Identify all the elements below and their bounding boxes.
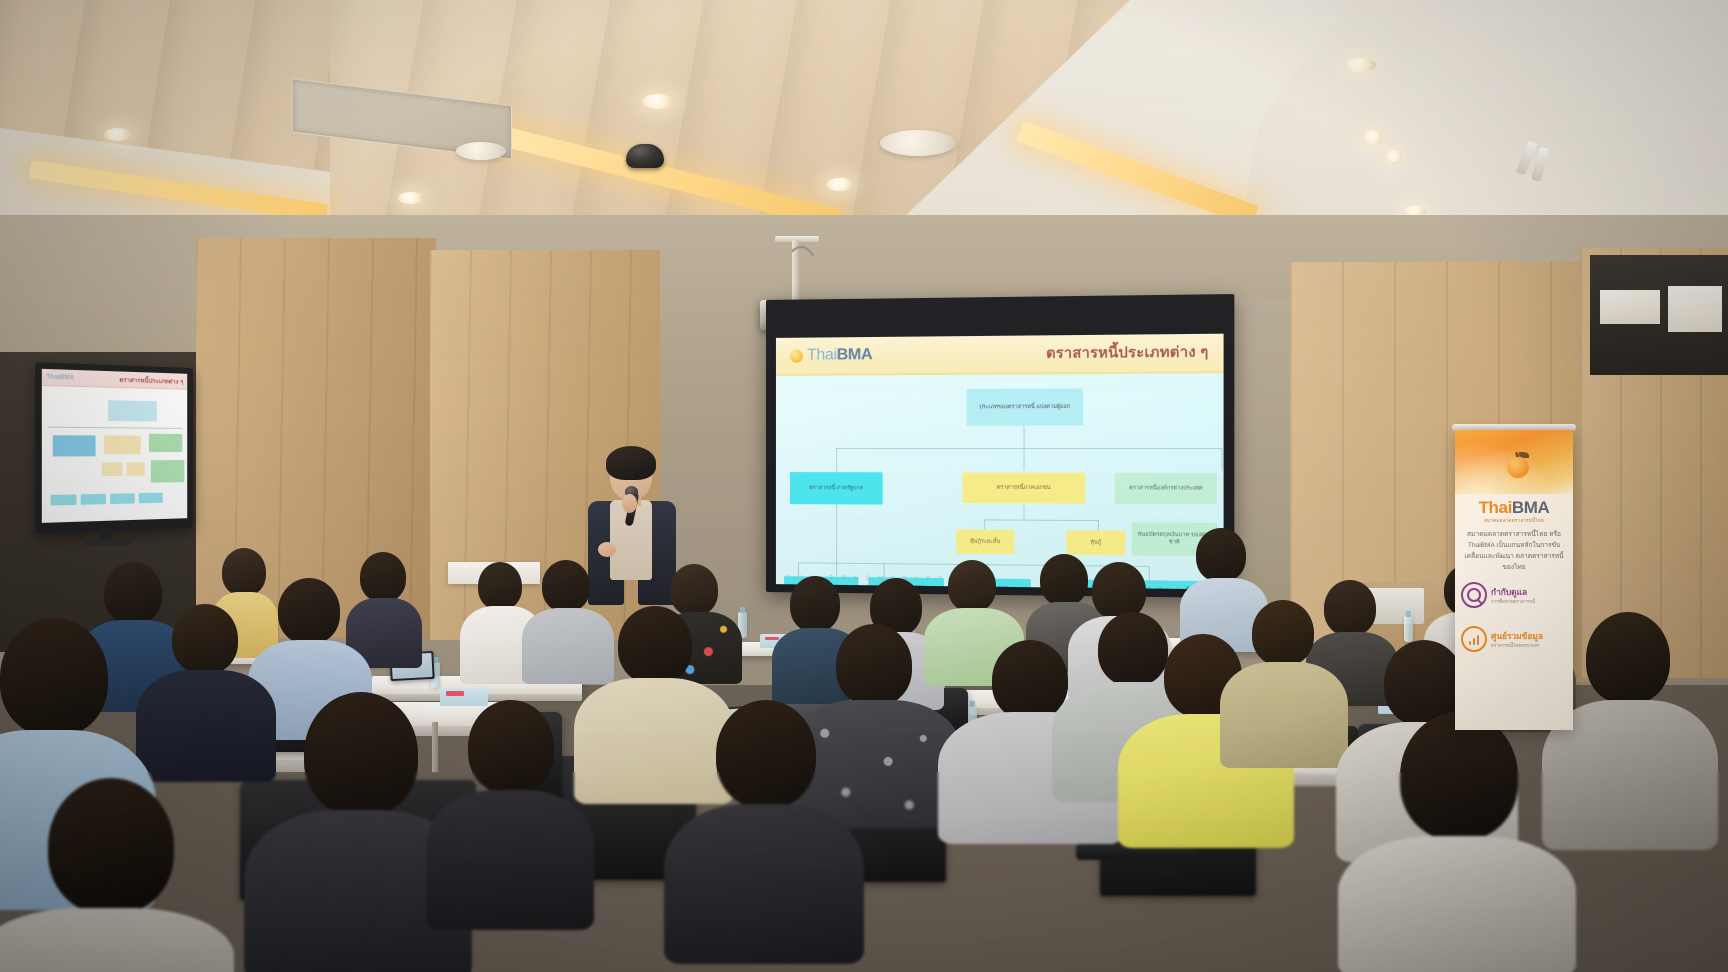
connector-line xyxy=(1098,520,1099,530)
roll-up-banner: ThaiBMA สมาคมตลาดตราสารหนี้ไทย สมาคมตลาด… xyxy=(1455,430,1573,730)
person-head xyxy=(542,560,590,612)
person-head xyxy=(0,618,108,736)
presentation-slide: ThaiBMA ตราสารหนี้ประเภทต่าง ๆ xyxy=(776,334,1224,590)
recessed-downlight xyxy=(1344,58,1376,72)
person-head xyxy=(670,564,718,616)
banner-logo-thai: Thai xyxy=(1479,498,1512,517)
person-head xyxy=(1400,712,1518,840)
recessed-downlight xyxy=(642,94,674,109)
wall-monitor: ThaiBMA ตราสารหนี้ประเภทต่าง ๆ xyxy=(35,362,193,534)
wall-monitor-node-gov xyxy=(53,435,96,456)
bar-chart-icon xyxy=(1461,626,1487,652)
monitor-base xyxy=(84,540,130,545)
person-head xyxy=(1324,580,1376,636)
connector-line xyxy=(1024,505,1025,519)
slide-node-level2-0: ตราสารหนี้ ภาครัฐบาล xyxy=(790,472,883,505)
ceiling-speaker xyxy=(456,142,506,160)
person-head xyxy=(790,576,840,632)
wall-monitor-title: ตราสารหนี้ประเภทต่าง ๆ xyxy=(119,374,183,386)
wall-monitor-node-sub2 xyxy=(127,462,145,476)
wall-monitor-node-corp xyxy=(104,436,141,455)
recessed-downlight xyxy=(104,128,132,141)
shelf-unit xyxy=(1668,286,1722,332)
thaibma-logo-dot-icon xyxy=(790,349,803,362)
projection-screen: ThaiBMA ตราสารหนี้ประเภทต่าง ๆ xyxy=(766,294,1234,598)
table-leg xyxy=(432,722,438,772)
connector-line xyxy=(1024,448,1025,470)
person-body xyxy=(136,670,276,782)
banner-logo-subtitle: สมาคมตลาดตราสารหนี้ไทย xyxy=(1455,518,1573,525)
wall-monitor-slide-header: ThaiBMA ตราสารหนี้ประเภทต่าง ๆ xyxy=(42,369,187,390)
person-body xyxy=(426,790,594,930)
person-head xyxy=(172,604,238,674)
person-head xyxy=(360,552,406,602)
spot-light xyxy=(1386,150,1402,164)
slide-node-level2-1: ตราสารหนี้ภาคเอกชน xyxy=(962,472,1085,503)
spot-light xyxy=(1364,130,1382,146)
thaibma-logo: ThaiBMA xyxy=(790,346,872,365)
person-head xyxy=(468,700,554,794)
banner-item-0: กำกับดูแล การซื้อขายตราสารหนี้ xyxy=(1461,582,1535,608)
wall-monitor-node-b3 xyxy=(139,493,163,504)
person-head xyxy=(836,624,912,706)
wall-monitor-screen: ThaiBMA ตราสารหนี้ประเภทต่าง ๆ xyxy=(42,369,187,523)
person-head xyxy=(948,560,996,612)
presenter-hand-mic xyxy=(622,494,637,513)
banner-item-0-text: กำกับดูแล การซื้อขายตราสารหนี้ xyxy=(1491,585,1535,606)
person-body xyxy=(0,908,234,972)
banner-item-1-title: ศูนย์รวมข้อมูล xyxy=(1491,629,1543,643)
person-head xyxy=(304,692,418,816)
shelf-unit xyxy=(1600,290,1660,324)
banner-item-1: ศูนย์รวมข้อมูล ตราสารหนี้ไทยครบวงจร xyxy=(1461,626,1543,652)
banner-fruit-icon xyxy=(1507,457,1529,478)
thaibma-logo-text: ThaiBMA xyxy=(807,346,872,365)
banner-logo-bma: BMA xyxy=(1512,498,1550,517)
connector-line xyxy=(1149,566,1150,580)
handout-booklet xyxy=(440,688,488,706)
person-head xyxy=(618,606,692,684)
person-body xyxy=(574,678,734,804)
projection-screen-surface: ThaiBMA ตราสารหนี้ประเภทต่าง ๆ xyxy=(776,334,1224,590)
wall-monitor-node-sub1 xyxy=(102,462,123,476)
banner-item-1-subtitle: ตราสารหนี้ไทยครบวงจร xyxy=(1491,643,1543,650)
banner-logo-text: ThaiBMA xyxy=(1455,498,1573,518)
person-head xyxy=(1252,600,1314,666)
logo-thai-part: Thai xyxy=(807,346,837,363)
person-head xyxy=(1040,554,1088,606)
banner-item-1-text: ศูนย์รวมข้อมูล ตราสารหนี้ไทยครบวงจร xyxy=(1491,629,1543,650)
person-head xyxy=(222,548,266,596)
person-body xyxy=(664,804,864,964)
connector-line xyxy=(836,448,1221,449)
person-body xyxy=(522,608,614,684)
water-bottle xyxy=(1404,616,1413,642)
banner-description: สมาคมตลาดตราสารหนี้ไทย หรือ ThaiBMA เป็น… xyxy=(1459,530,1569,574)
person-head xyxy=(278,578,340,644)
slide-node-root: ประเภทของตราสารหนี้ แบ่งตามผู้ออก xyxy=(967,388,1084,425)
person-head xyxy=(992,640,1068,720)
connector-line xyxy=(884,563,885,577)
dome-camera-icon xyxy=(626,144,664,168)
recessed-downlight xyxy=(826,178,854,191)
person-head xyxy=(48,778,174,914)
connector-line xyxy=(798,562,799,576)
wall-monitor-node-b2 xyxy=(110,493,135,504)
person-head xyxy=(478,562,522,610)
logo-bma-part: BMA xyxy=(837,346,873,363)
conference-room-photo: ThaiBMA ตราสารหนี้ประเภทต่าง ๆ xyxy=(0,0,1728,972)
connector-line xyxy=(984,519,1099,521)
slide-node-level2-2: ตราสารหนี้องค์กรต่างประเทศ xyxy=(1115,473,1217,504)
connector-line xyxy=(836,448,837,470)
person-head xyxy=(1586,612,1670,704)
connector-line xyxy=(1024,426,1025,448)
slide-node-level3-0: หุ้นกู้ระยะสั้น xyxy=(956,529,1014,554)
connector-line xyxy=(984,519,985,529)
person-head xyxy=(1098,612,1168,686)
person-head xyxy=(104,562,162,624)
slide-body: ประเภทของตราสารหนี้ แบ่งตามผู้ออก ตราสาร… xyxy=(776,373,1224,589)
slide-node-level3-1: หุ้นกู้ xyxy=(1066,530,1125,555)
slide-title: ตราสารหนี้ประเภทต่าง ๆ xyxy=(1046,341,1208,365)
ceiling-speaker xyxy=(880,130,956,156)
wall-monitor-logo: ThaiBMA xyxy=(46,374,74,381)
wall-monitor-node-foreign xyxy=(149,434,183,452)
wall-monitor-node-b1 xyxy=(81,494,106,505)
banner-item-0-title: กำกับดูแล xyxy=(1491,585,1535,599)
person-body xyxy=(1338,836,1576,972)
magnifier-icon xyxy=(1461,582,1487,608)
wall-monitor-node-b0 xyxy=(51,494,77,505)
connector-line xyxy=(1221,448,1222,471)
banner-item-0-subtitle: การซื้อขายตราสารหนี้ xyxy=(1491,599,1535,606)
wall-monitor-node-root xyxy=(108,400,157,421)
slide-header: ThaiBMA ตราสารหนี้ประเภทต่าง ๆ xyxy=(776,334,1224,376)
person-head xyxy=(1092,562,1146,620)
presenter-hair xyxy=(606,446,656,480)
presenter-hand-gesture xyxy=(598,542,616,557)
wall-monitor-node-sub3 xyxy=(151,460,184,483)
person-body xyxy=(1220,662,1348,768)
wall-monitor-connector xyxy=(48,427,182,429)
person-head xyxy=(1196,528,1246,582)
person-head xyxy=(716,700,816,808)
recessed-downlight xyxy=(398,192,424,204)
